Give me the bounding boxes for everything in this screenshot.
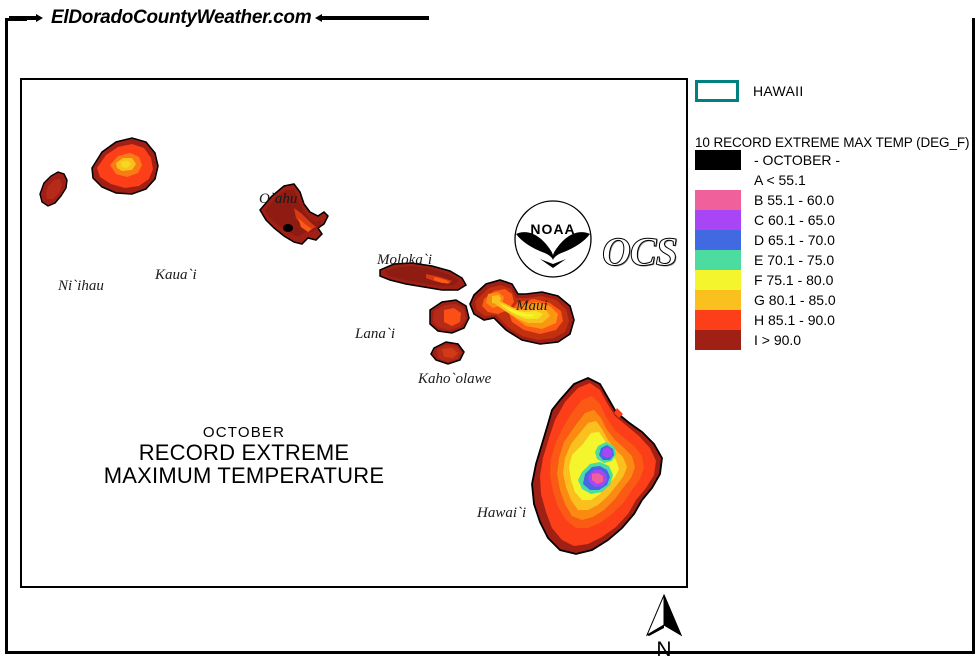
- legend-color-swatch: [695, 150, 741, 170]
- legend-color-swatch: [695, 190, 741, 210]
- legend-class-label: I > 90.0: [754, 332, 801, 348]
- legend-row: H 85.1 - 90.0: [695, 310, 975, 330]
- north-arrow: N: [636, 592, 692, 660]
- ocs-logo: OCS: [602, 228, 677, 275]
- map-frame: Ni`ihau Kaua`i O`ahu Moloka`i Lana`i Mau…: [20, 78, 688, 588]
- island-label-hawaii: Hawai`i: [477, 505, 526, 522]
- legend-color-swatch: [695, 310, 741, 330]
- island-label-niihau: Ni`ihau: [58, 278, 104, 295]
- legend-area-swatch: [695, 80, 739, 102]
- legend-row: D 65.1 - 70.0: [695, 230, 975, 250]
- legend-class-label: H 85.1 - 90.0: [754, 312, 835, 328]
- legend-class-label: F 75.1 - 80.0: [754, 272, 833, 288]
- island-niihau: [40, 172, 67, 206]
- legend-color-swatch: [695, 270, 741, 290]
- legend-color-swatch: [695, 330, 741, 350]
- legend-class-label: - OCTOBER -: [754, 152, 840, 168]
- legend-class-list: - OCTOBER - A < 55.1 B 55.1 - 60.0 C 60.…: [695, 150, 975, 350]
- island-kahoolawe: [431, 342, 464, 364]
- map-page: ElDoradoCountyWeather.com: [0, 0, 980, 660]
- island-label-kauai: Kaua`i: [155, 267, 197, 284]
- island-label-oahu: O`ahu: [259, 191, 297, 208]
- island-label-lanai: Lana`i: [355, 326, 395, 343]
- north-arrow-label: N: [636, 639, 692, 660]
- island-label-maui: Maui: [516, 298, 548, 315]
- legend-class-label: C 60.1 - 65.0: [754, 212, 835, 228]
- legend-row: F 75.1 - 80.0: [695, 270, 975, 290]
- legend-class-label: B 55.1 - 60.0: [754, 192, 834, 208]
- hawaii-choropleth-map: [22, 80, 686, 586]
- legend-row: E 70.1 - 75.0: [695, 250, 975, 270]
- legend-row: A < 55.1: [695, 170, 975, 190]
- island-label-molokai: Moloka`i: [377, 252, 432, 269]
- island-kauai: [92, 138, 158, 194]
- noaa-logo: NOAA: [510, 198, 596, 285]
- legend-area-label: HAWAII: [753, 83, 804, 99]
- map-title-block: OCTOBER RECORD EXTREME MAXIMUM TEMPERATU…: [34, 425, 454, 488]
- legend-row: C 60.1 - 65.0: [695, 210, 975, 230]
- legend-class-label: E 70.1 - 75.0: [754, 252, 834, 268]
- legend-row: G 80.1 - 85.0: [695, 290, 975, 310]
- legend-color-swatch: [695, 290, 741, 310]
- legend-header: 10 RECORD EXTREME MAX TEMP (DEG_F): [695, 135, 975, 150]
- north-arrow-icon: [641, 592, 687, 638]
- legend-area-key: HAWAII: [695, 80, 975, 102]
- legend-row: B 55.1 - 60.0: [695, 190, 975, 210]
- legend-class-label: A < 55.1: [754, 172, 806, 188]
- legend-class-label: G 80.1 - 85.0: [754, 292, 836, 308]
- legend-color-swatch: [695, 170, 741, 190]
- map-title-month: OCTOBER: [34, 425, 454, 441]
- legend-class-label: D 65.1 - 70.0: [754, 232, 835, 248]
- map-title-line2: MAXIMUM TEMPERATURE: [34, 464, 454, 487]
- legend-color-swatch: [695, 230, 741, 250]
- legend-color-swatch: [695, 210, 741, 230]
- legend: HAWAII 10 RECORD EXTREME MAX TEMP (DEG_F…: [695, 78, 975, 350]
- island-hawaii: [532, 378, 662, 554]
- legend-color-swatch: [695, 250, 741, 270]
- island-label-kahoolawe: Kaho`olawe: [418, 371, 491, 388]
- legend-row: I > 90.0: [695, 330, 975, 350]
- legend-row: - OCTOBER -: [695, 150, 975, 170]
- svg-text:NOAA: NOAA: [530, 221, 575, 237]
- map-title-line1: RECORD EXTREME: [34, 441, 454, 464]
- island-lanai: [430, 300, 469, 333]
